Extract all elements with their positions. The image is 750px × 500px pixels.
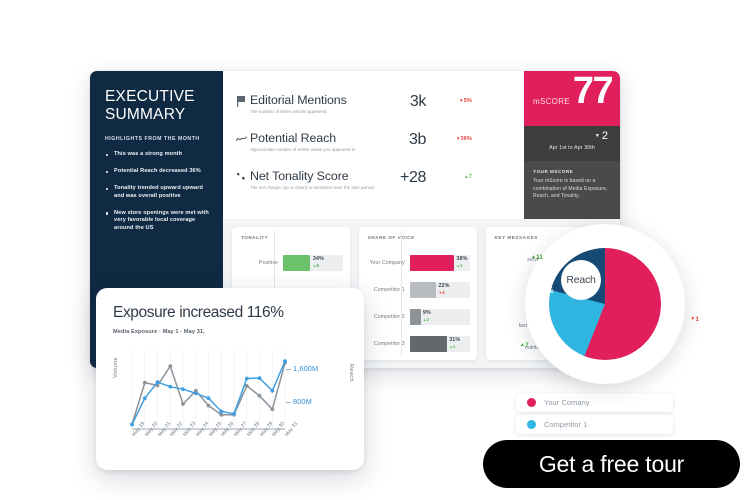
bar-value: 22%	[438, 283, 449, 289]
chart-title: Exposure increased 116%	[113, 304, 350, 322]
donut-legend: Your Comany Competitor 1	[516, 393, 673, 437]
bar-track: 38% ▲1	[410, 255, 470, 271]
bar-fill	[283, 255, 310, 271]
bar-value: 34%	[313, 256, 324, 262]
mscore-info-text: Your mScore is based on a combination of…	[533, 178, 612, 201]
metric-description: The net change (up or down) in sentiment…	[250, 185, 480, 190]
metric-delta: ▲7	[464, 174, 472, 180]
bar-fill	[410, 282, 436, 298]
triangle-down-icon: ▼	[456, 136, 461, 141]
bar-track: 9% ▲2	[410, 309, 470, 325]
legend-item-competitor-1[interactable]: Competitor 1	[516, 415, 673, 434]
x-axis-tick-label: May 31	[284, 421, 299, 438]
bar-value: 38%	[456, 256, 467, 262]
mscore-delta: ▼2	[597, 130, 608, 142]
widget-heading: TONALITY	[241, 235, 343, 240]
mscore-date-range: Apr 1st to Apr 30th	[524, 145, 620, 151]
triangle-up-icon: ▲	[520, 342, 525, 348]
triangle-down-icon: ▼	[595, 133, 600, 139]
legend-label: Your Comany	[544, 398, 590, 407]
metric-row-net-tonality-score[interactable]: Net Tonality Score The net change (up or…	[236, 169, 480, 207]
metric-name: Potential Reach	[250, 131, 480, 145]
flag-icon	[236, 96, 247, 109]
mscore-label: mSCORE	[533, 97, 570, 106]
mscore-card: mSCORE 77 ▼2 Apr 1st to Apr 30th YOUR mS…	[524, 71, 620, 219]
list-item: Tonality trended upward upward and was o…	[105, 185, 210, 200]
bar-label: Your Company	[368, 260, 410, 266]
mscore-value: 77	[573, 71, 612, 113]
metric-value: +28	[400, 169, 426, 187]
triangle-down-icon: ▼	[459, 98, 464, 103]
table-row[interactable]: Positive 34% ▲6	[241, 249, 343, 276]
bar-delta: ▲6	[313, 263, 319, 268]
donut-delta-other: ▲11	[531, 254, 543, 261]
bar-value: 31%	[449, 337, 460, 343]
triangle-up-icon: ▲	[531, 254, 536, 260]
metric-description: Approximate number of article views you …	[250, 147, 480, 152]
bar-delta: ▲1	[456, 263, 462, 268]
legend-label: Competitor 1	[544, 420, 588, 429]
triangle-down-icon: ▼	[690, 316, 695, 322]
cta-label: Get a free tour	[539, 451, 684, 478]
table-row[interactable]: Competitor 1 22% ▼4	[368, 276, 470, 303]
metric-description: The number of times articles appeared	[250, 109, 480, 114]
metric-row-potential-reach[interactable]: Potential Reach Approximate number of ar…	[236, 131, 480, 169]
bar-fill	[410, 336, 447, 352]
screenshot-root: EXECUTIVE SUMMARY HIGHLIGHTS FROM THE MO…	[0, 0, 750, 500]
donut-slice-label-your-comany: 56%	[659, 276, 674, 285]
metric-name: Editorial Mentions	[250, 93, 480, 107]
mscore-info-heading: YOUR mSCORE	[533, 169, 612, 174]
get-a-free-tour-button[interactable]: Get a free tour	[483, 440, 740, 488]
bar-delta: ▲1	[449, 344, 455, 349]
line-chart-area: Volume Reach 1,600M 800M May 19May 20May…	[113, 350, 351, 458]
bar-track: 34% ▲6	[283, 255, 343, 271]
donut-slice-label-other: 21%	[555, 250, 570, 259]
tonality-bars: Positive 34% ▲6	[241, 249, 343, 276]
share-of-voice-widget: SHARE OF VOICE Your Company 38% ▲1 Compe…	[359, 227, 477, 360]
reach-donut-chart: Reach 56% 23% 21% ▼1 ▲7 ▲11	[525, 224, 685, 384]
bar-track: 31% ▲1	[410, 336, 470, 352]
axis-tick	[286, 402, 291, 403]
bar-label: Competitor 2	[368, 314, 410, 320]
bar-track: 22% ▼4	[410, 282, 470, 298]
legend-item-your-comany[interactable]: Your Comany	[516, 393, 673, 412]
page-title: EXECUTIVE SUMMARY	[105, 88, 210, 124]
highlights-list: This was a strong month Potential Reach …	[105, 151, 210, 233]
bar-delta: ▼4	[438, 290, 444, 295]
donut-delta-your-comany: ▼1	[690, 316, 699, 323]
list-item: Potential Reach decreased 36%	[105, 168, 210, 176]
bar-label: Competitor 1	[368, 287, 410, 293]
mscore-change-section: ▼2 Apr 1st to Apr 30th	[524, 126, 620, 161]
line-chart-plot	[132, 350, 285, 428]
triangle-up-icon: ▲	[313, 264, 317, 268]
y-axis-label-left: Volume	[113, 357, 119, 378]
y-axis-label-right: Reach	[348, 364, 354, 382]
triangle-up-icon: ▲	[464, 174, 469, 179]
share-of-voice-bars: Your Company 38% ▲1 Competitor 1 22% ▼4	[368, 249, 470, 357]
table-row[interactable]: Competitor 3 31% ▲1	[368, 330, 470, 357]
metric-value: 3k	[410, 93, 426, 111]
metric-name: Net Tonality Score	[250, 169, 480, 183]
donut-ring	[549, 248, 661, 360]
triangle-up-icon: ▲	[449, 345, 453, 349]
donut-slice-label-competitor-1: 23%	[538, 286, 553, 295]
x-axis-labels: May 19May 20May 21May 22May 23May 24May …	[132, 434, 285, 458]
bar-fill	[410, 309, 421, 325]
donut-center-label: Reach	[561, 260, 601, 300]
list-item: New store openings were met with very fa…	[105, 210, 210, 233]
y-axis-tick-label: 1,600M	[293, 364, 318, 373]
key-metrics-list: Editorial Mentions The number of times a…	[223, 71, 486, 219]
table-row[interactable]: Competitor 2 9% ▲2	[368, 303, 470, 330]
metric-delta: ▼5%	[459, 98, 472, 104]
bar-label: Positive	[241, 260, 283, 266]
table-row[interactable]: Your Company 38% ▲1	[368, 249, 470, 276]
highlights-subheading: HIGHLIGHTS FROM THE MONTH	[105, 136, 210, 142]
chart-subtitle: Media Exposure · May 1 - May 31,	[113, 329, 350, 335]
axis-tick	[286, 369, 291, 370]
triangle-up-icon: ▲	[423, 318, 427, 322]
mscore-info-section: YOUR mSCORE Your mScore is based on a co…	[524, 161, 620, 219]
thumbs-icon	[236, 172, 247, 185]
bar-value: 9%	[423, 310, 431, 316]
metric-row-editorial-mentions[interactable]: Editorial Mentions The number of times a…	[236, 93, 480, 131]
legend-color-dot	[527, 420, 536, 429]
donut-delta-competitor-1: ▲7	[520, 342, 529, 349]
bar-delta: ▲2	[423, 317, 429, 322]
bar-label: Competitor 3	[368, 341, 410, 347]
y-axis-tick-label: 800M	[293, 397, 312, 406]
metric-value: 3b	[409, 131, 426, 149]
widget-heading: SHARE OF VOICE	[368, 235, 470, 240]
triangle-up-icon: ▲	[456, 264, 460, 268]
legend-color-dot	[527, 398, 536, 407]
metric-delta: ▼36%	[456, 136, 472, 142]
bar-fill	[410, 255, 454, 271]
trend-line-icon	[236, 134, 247, 147]
triangle-down-icon: ▼	[438, 291, 442, 295]
list-item: This was a strong month	[105, 151, 210, 159]
exposure-chart-card: Exposure increased 116% Media Exposure ·…	[96, 288, 364, 470]
mscore-header: mSCORE 77	[524, 71, 620, 126]
